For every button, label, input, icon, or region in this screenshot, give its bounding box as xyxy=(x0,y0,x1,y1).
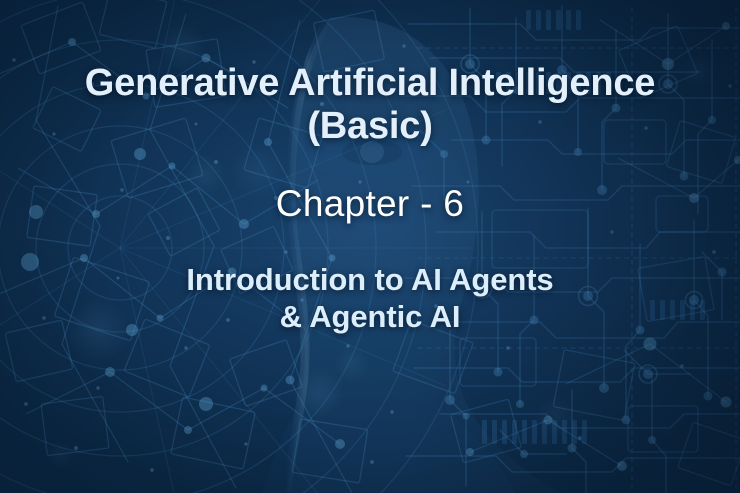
topic-title-line2: & Agentic AI xyxy=(186,298,553,335)
presentation-slide: Generative Artificial Intelligence (Basi… xyxy=(0,0,740,493)
slide-text-stack: Generative Artificial Intelligence (Basi… xyxy=(0,0,740,493)
course-title: Generative Artificial Intelligence (Basi… xyxy=(85,62,655,149)
course-title-line1: Generative Artificial Intelligence xyxy=(85,62,655,105)
topic-title: Introduction to AI Agents & Agentic AI xyxy=(186,261,553,335)
course-title-line2: (Basic) xyxy=(85,105,655,148)
topic-title-line1: Introduction to AI Agents xyxy=(186,261,553,298)
chapter-label: Chapter - 6 xyxy=(276,183,464,225)
